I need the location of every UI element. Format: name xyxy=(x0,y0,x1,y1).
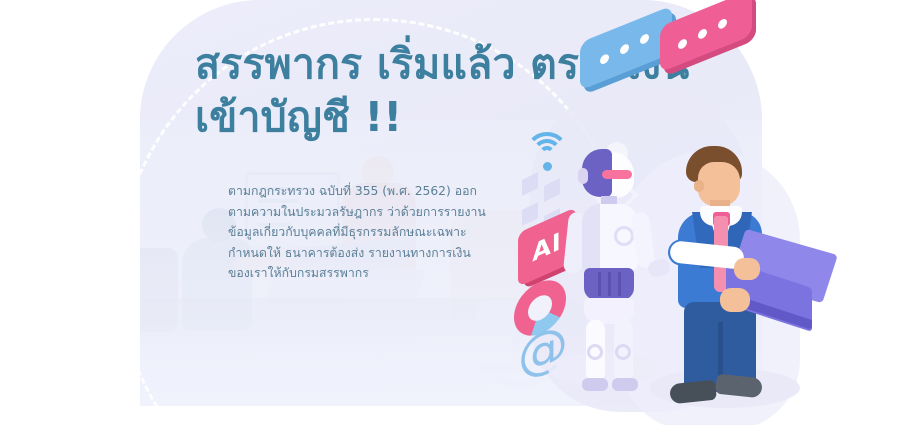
chat-bubble-pink-icon xyxy=(660,0,752,73)
robot-ear xyxy=(578,168,588,184)
robot-character xyxy=(556,152,666,397)
man-hand-upper xyxy=(734,258,760,280)
robot-chest-circle xyxy=(614,226,634,246)
isometric-illustration: AI @ xyxy=(470,0,924,425)
robot-visor xyxy=(602,170,632,179)
tax-announcement-banner: สรรพากร เริ่มแล้ว ตรวจเงิน เข้าบัญชี !! … xyxy=(0,0,924,425)
man-shoe-left xyxy=(669,380,717,405)
man-ear xyxy=(694,180,704,192)
businessman-character xyxy=(656,146,806,406)
man-shoe-right xyxy=(715,374,763,399)
man-hand-lower xyxy=(720,288,750,312)
robot-torso-shade xyxy=(582,204,600,272)
chat-bubble-blue-icon xyxy=(580,5,672,90)
